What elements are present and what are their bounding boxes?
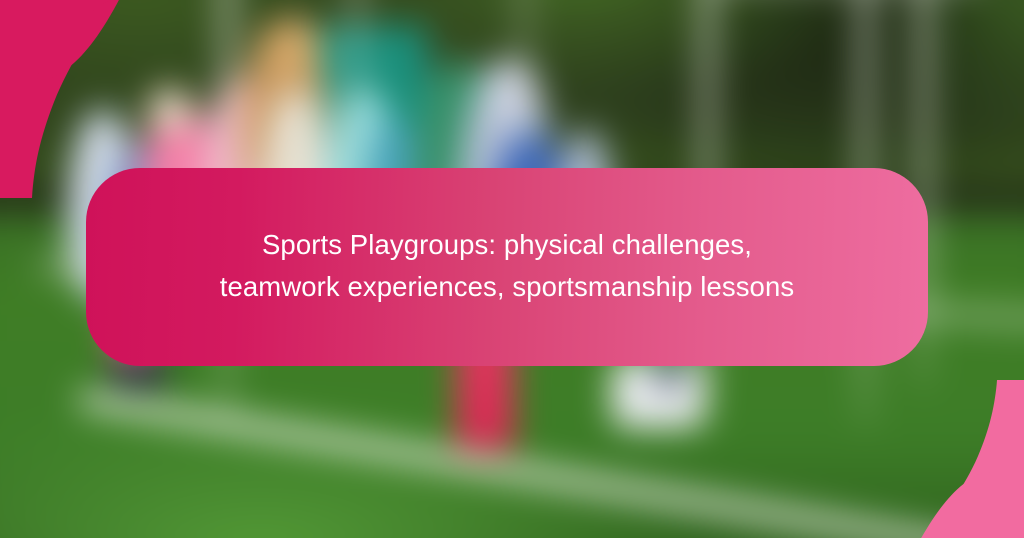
headline-banner: Sports Playgroups: physical challenges, … <box>86 168 928 366</box>
headline-text: Sports Playgroups: physical challenges, … <box>220 224 794 310</box>
corner-leaf-icon <box>850 380 1024 538</box>
headline-line-1: Sports Playgroups: physical challenges, <box>220 224 794 266</box>
child-head <box>480 60 538 120</box>
child-head <box>266 18 322 76</box>
headline-line-2: teamwork experiences, sportsmanship less… <box>220 266 794 308</box>
banner-card: Sports Playgroups: physical challenges, … <box>0 0 1024 538</box>
